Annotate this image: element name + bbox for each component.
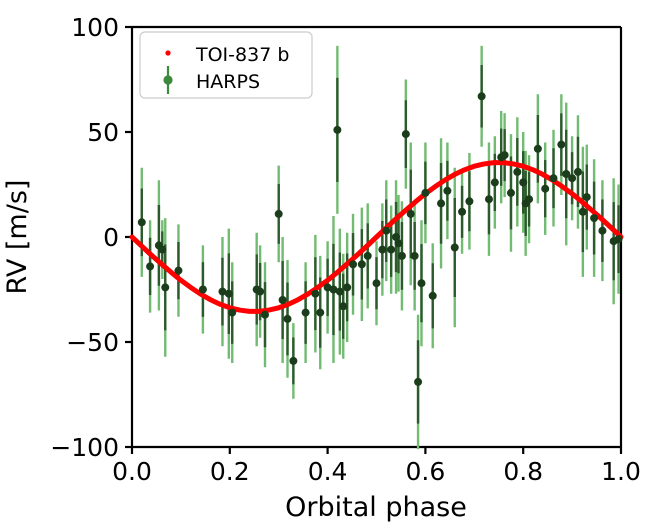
legend[interactable]: TOI-837 b HARPS xyxy=(140,32,312,98)
data-point-marker xyxy=(349,260,357,268)
legend-marker-toi-837-b xyxy=(165,50,170,55)
data-point-marker xyxy=(458,208,466,216)
data-point-marker xyxy=(534,145,542,153)
data-point-marker xyxy=(579,208,587,216)
data-point-marker xyxy=(289,357,297,365)
data-point-marker xyxy=(615,235,623,243)
data-point-marker xyxy=(174,267,182,275)
data-point-marker xyxy=(437,199,445,207)
data-point-marker xyxy=(302,309,310,317)
data-point-marker xyxy=(382,227,390,235)
data-point-marker xyxy=(583,193,591,201)
y-tick-label: −100 xyxy=(50,433,119,462)
data-point-marker xyxy=(465,197,473,205)
data-point-marker xyxy=(311,290,319,298)
data-point-marker xyxy=(199,286,207,294)
x-tick-label: 0.4 xyxy=(308,457,348,486)
data-point-marker xyxy=(478,92,486,100)
data-point-marker xyxy=(228,309,236,317)
y-tick-label: 50 xyxy=(87,118,119,147)
data-point-marker xyxy=(284,315,292,323)
data-point-marker xyxy=(316,309,324,317)
data-point-marker xyxy=(358,260,366,268)
data-point-marker xyxy=(574,168,582,176)
data-point-marker xyxy=(421,189,429,197)
x-tick-label: 0.2 xyxy=(210,457,250,486)
data-point-marker xyxy=(507,189,515,197)
plot-canvas: 0.00.20.40.60.81.0 100500−50−100 Orbital… xyxy=(0,0,646,530)
data-point-marker xyxy=(275,210,283,218)
data-point-marker xyxy=(387,246,395,254)
legend-marker-harps xyxy=(163,75,172,84)
y-tick-label: 100 xyxy=(71,13,119,42)
x-tick-label: 0.6 xyxy=(406,457,446,486)
data-point-marker xyxy=(333,126,341,134)
data-point-marker xyxy=(225,290,233,298)
data-point-marker xyxy=(395,239,403,247)
data-point-marker xyxy=(519,178,527,186)
y-tick-label: 0 xyxy=(103,223,119,252)
rv-phase-figure: 0.00.20.40.60.81.0 100500−50−100 Orbital… xyxy=(0,0,646,530)
data-point-marker xyxy=(557,141,565,149)
data-point-marker xyxy=(146,262,154,270)
legend-label-harps: HARPS xyxy=(196,71,260,93)
data-point-marker xyxy=(443,187,451,195)
data-point-marker xyxy=(568,174,576,182)
data-point-marker xyxy=(501,151,509,159)
data-point-marker xyxy=(261,311,269,319)
data-point-marker xyxy=(411,252,419,260)
data-point-marker xyxy=(417,279,425,287)
data-point-marker xyxy=(256,288,264,296)
data-point-marker xyxy=(158,246,166,254)
data-point-marker xyxy=(525,195,533,203)
data-point-marker xyxy=(138,218,146,226)
data-point-marker xyxy=(336,288,344,296)
data-point-marker xyxy=(373,279,381,287)
data-point-marker xyxy=(598,227,606,235)
y-tick-label: −50 xyxy=(66,328,119,357)
data-point-marker xyxy=(550,174,558,182)
data-point-marker xyxy=(339,302,347,310)
data-point-marker xyxy=(541,185,549,193)
data-point-marker xyxy=(161,283,169,291)
data-point-marker xyxy=(414,378,422,386)
data-point-marker xyxy=(279,296,287,304)
data-point-marker xyxy=(485,195,493,203)
data-point-marker xyxy=(491,178,499,186)
legend-label-toi-837-b: TOI-837 b xyxy=(195,44,289,66)
data-point-marker xyxy=(590,214,598,222)
data-point-marker xyxy=(407,210,415,218)
data-point-marker xyxy=(378,246,386,254)
y-axis-label: RV [m/s] xyxy=(2,180,33,295)
data-point-marker xyxy=(451,244,459,252)
x-axis-label: Orbital phase xyxy=(285,492,467,523)
x-tick-label: 1.0 xyxy=(601,457,641,486)
data-point-marker xyxy=(513,168,521,176)
data-point-marker xyxy=(343,283,351,291)
data-point-marker xyxy=(364,252,372,260)
x-tick-label: 0.8 xyxy=(503,457,543,486)
data-point-marker xyxy=(398,252,406,260)
data-point-marker xyxy=(429,292,437,300)
data-point-marker xyxy=(402,130,410,138)
